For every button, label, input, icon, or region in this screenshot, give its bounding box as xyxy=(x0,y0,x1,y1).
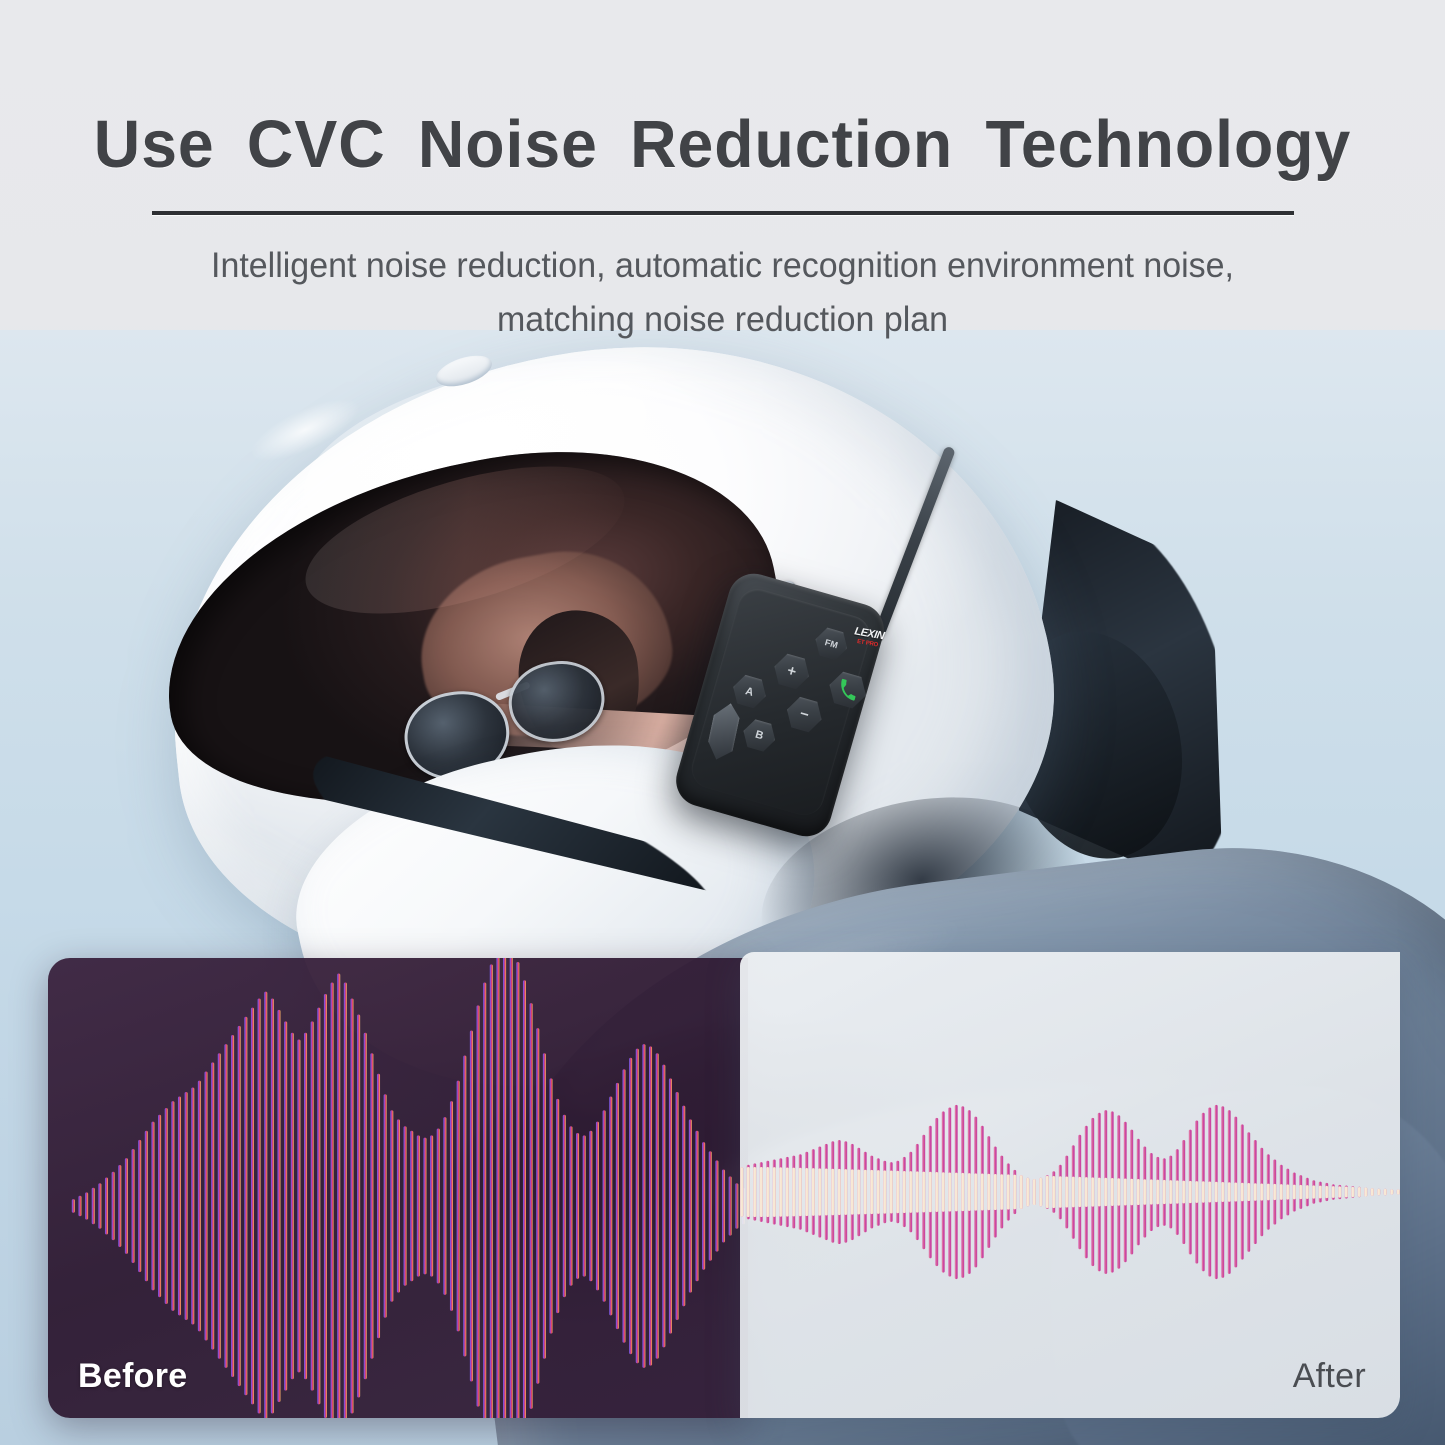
header-block: Use CVC Noise Reduction Technology Intel… xyxy=(0,0,1445,348)
phone-icon xyxy=(835,678,860,703)
before-label: Before xyxy=(78,1357,188,1396)
jog-dial[interactable] xyxy=(705,700,742,762)
before-waveform xyxy=(48,958,748,1418)
sunglasses-lens-right xyxy=(504,655,610,748)
product-feature-poster: LEXIN ET PRO FM + A − B xyxy=(0,0,1445,1445)
before-waveform-svg xyxy=(48,958,748,1418)
after-waveform-svg xyxy=(740,952,1400,1418)
page-subtitle: Intelligent noise reduction, automatic r… xyxy=(22,215,1424,348)
subtitle-line-1: Intelligent noise reduction, automatic r… xyxy=(211,246,1234,285)
after-panel: After xyxy=(740,952,1400,1418)
after-label: After xyxy=(1293,1357,1366,1396)
page-title: Use CVC Noise Reduction Technology xyxy=(29,0,1416,183)
volume-up-button[interactable]: + xyxy=(770,651,814,693)
volume-down-button[interactable]: − xyxy=(782,694,826,736)
subtitle-line-2: matching noise reduction plan xyxy=(22,293,1424,347)
after-waveform xyxy=(740,952,1400,1418)
a-button[interactable]: A xyxy=(729,672,770,711)
before-panel: Before xyxy=(48,958,748,1418)
b-button[interactable]: B xyxy=(739,717,779,755)
